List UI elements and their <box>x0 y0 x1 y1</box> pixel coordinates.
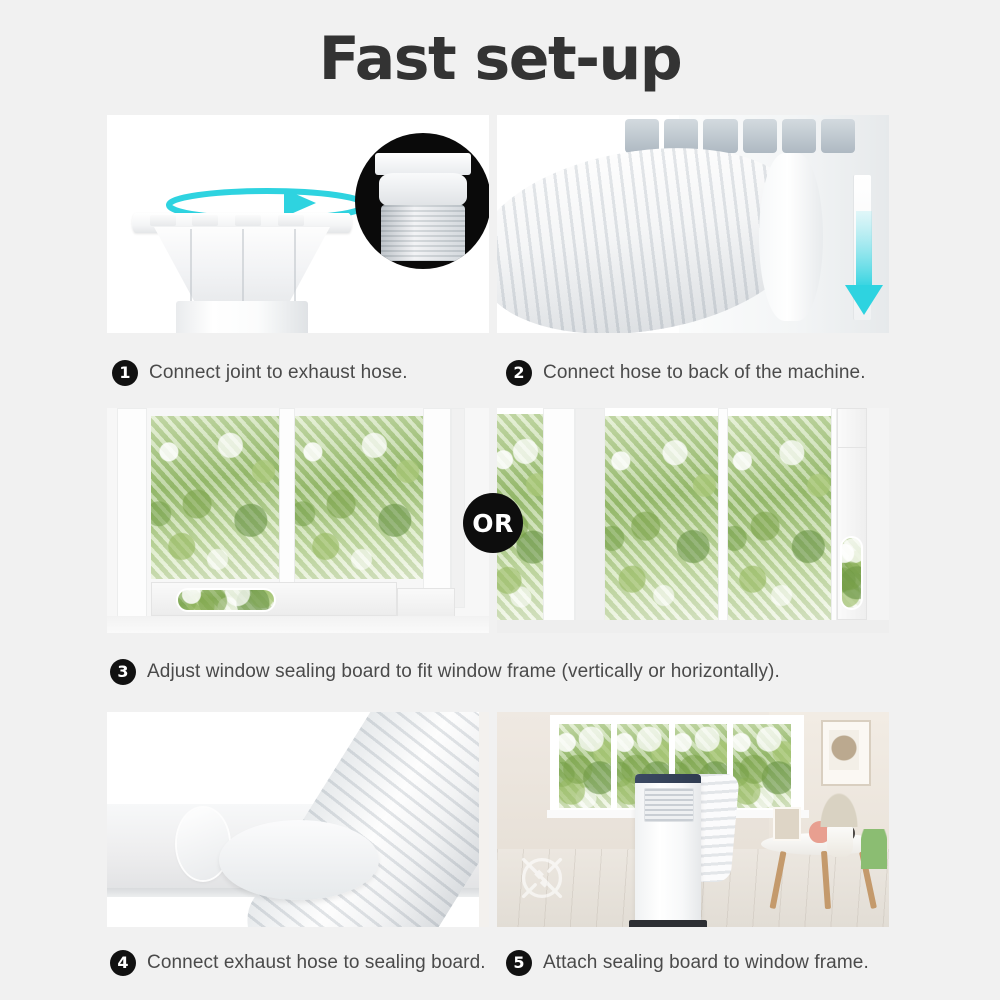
step-2-caption: 2 Connect hose to back of the machine. <box>506 360 866 386</box>
window-edge <box>451 408 465 608</box>
step-4-image <box>107 712 489 927</box>
step-3-text: Adjust window sealing board to fit windo… <box>147 661 780 683</box>
exhaust-hose-connector <box>759 153 823 321</box>
step-5-caption: 5 Attach sealing board to window frame. <box>506 950 869 976</box>
portable-air-conditioner <box>635 774 701 924</box>
window-sill <box>107 616 489 633</box>
exhaust-hose-cuff <box>219 820 379 900</box>
window-jamb-left <box>117 408 147 624</box>
joint-tab <box>278 215 304 226</box>
joint-cone-rib <box>294 229 296 305</box>
step-3-image-horizontal <box>107 408 489 633</box>
ac-base <box>629 920 707 927</box>
no-tools-icon <box>511 847 573 909</box>
panel-right-edge <box>479 712 489 927</box>
window-pane-center <box>605 416 718 620</box>
step-5-image <box>497 712 889 927</box>
table-leg <box>821 851 831 909</box>
sealing-board-hole-horizontal <box>178 590 274 610</box>
inset-hose <box>381 205 465 261</box>
step-1-image <box>107 115 489 333</box>
step-4-caption: 4 Connect exhaust hose to sealing board. <box>110 950 486 976</box>
window-pane <box>733 724 791 808</box>
sealing-board-extension <box>837 408 867 448</box>
decor-photo-frame <box>773 807 801 841</box>
step-5-text: Attach sealing board to window frame. <box>543 952 869 974</box>
down-arrow-icon <box>841 211 887 321</box>
window-sill <box>497 620 889 633</box>
wall-art-frame <box>821 720 871 786</box>
step-3-image-vertical <box>497 408 889 633</box>
step-1-caption: 1 Connect joint to exhaust hose. <box>112 360 408 386</box>
step-2-badge: 2 <box>506 360 532 386</box>
joint-neck <box>176 301 308 333</box>
ac-control-panel <box>635 774 701 783</box>
step-4-text: Connect exhaust hose to sealing board. <box>147 952 486 974</box>
joint-tab <box>235 215 261 226</box>
decor-plant <box>861 829 887 869</box>
decor-vase-white <box>827 823 853 857</box>
window-pane-right <box>295 416 423 579</box>
ac-front-vent <box>644 788 694 822</box>
step-1-text: Connect joint to exhaust hose. <box>149 362 408 384</box>
window-jamb-left <box>543 408 575 628</box>
decor-dried-grass <box>819 791 859 827</box>
joint-tab <box>150 215 176 226</box>
joint-tab <box>192 215 218 226</box>
window-pane-left <box>151 416 279 579</box>
step-4-badge: 4 <box>110 950 136 976</box>
exhaust-joint-illustration <box>132 155 352 333</box>
step-1-badge: 1 <box>112 360 138 386</box>
step-2-text: Connect hose to back of the machine. <box>543 362 866 384</box>
inset-cap <box>375 153 471 175</box>
window-mullion-left <box>575 408 605 628</box>
joint-cone-rib <box>242 229 244 305</box>
window-mullion <box>279 408 295 588</box>
step-5-badge: 5 <box>506 950 532 976</box>
step-2-image <box>497 115 889 333</box>
table-leg <box>770 851 787 909</box>
fast-setup-page: Fast set-up <box>0 0 1000 1000</box>
window-pane <box>559 724 611 808</box>
page-title: Fast set-up <box>0 24 1000 94</box>
wall-right <box>867 408 889 633</box>
inset-collar <box>379 173 467 207</box>
window-pane-right <box>728 416 831 620</box>
step-3-badge: 3 <box>110 659 136 685</box>
joint-cone-rib <box>190 229 192 305</box>
window-mullion-center <box>718 408 728 628</box>
sealing-board-hole-vertical <box>842 538 861 608</box>
or-badge-icon: OR <box>463 493 523 553</box>
joint-inset-icon <box>355 133 489 269</box>
step-3-caption: 3 Adjust window sealing board to fit win… <box>110 659 780 685</box>
wall-art-image <box>829 730 859 770</box>
